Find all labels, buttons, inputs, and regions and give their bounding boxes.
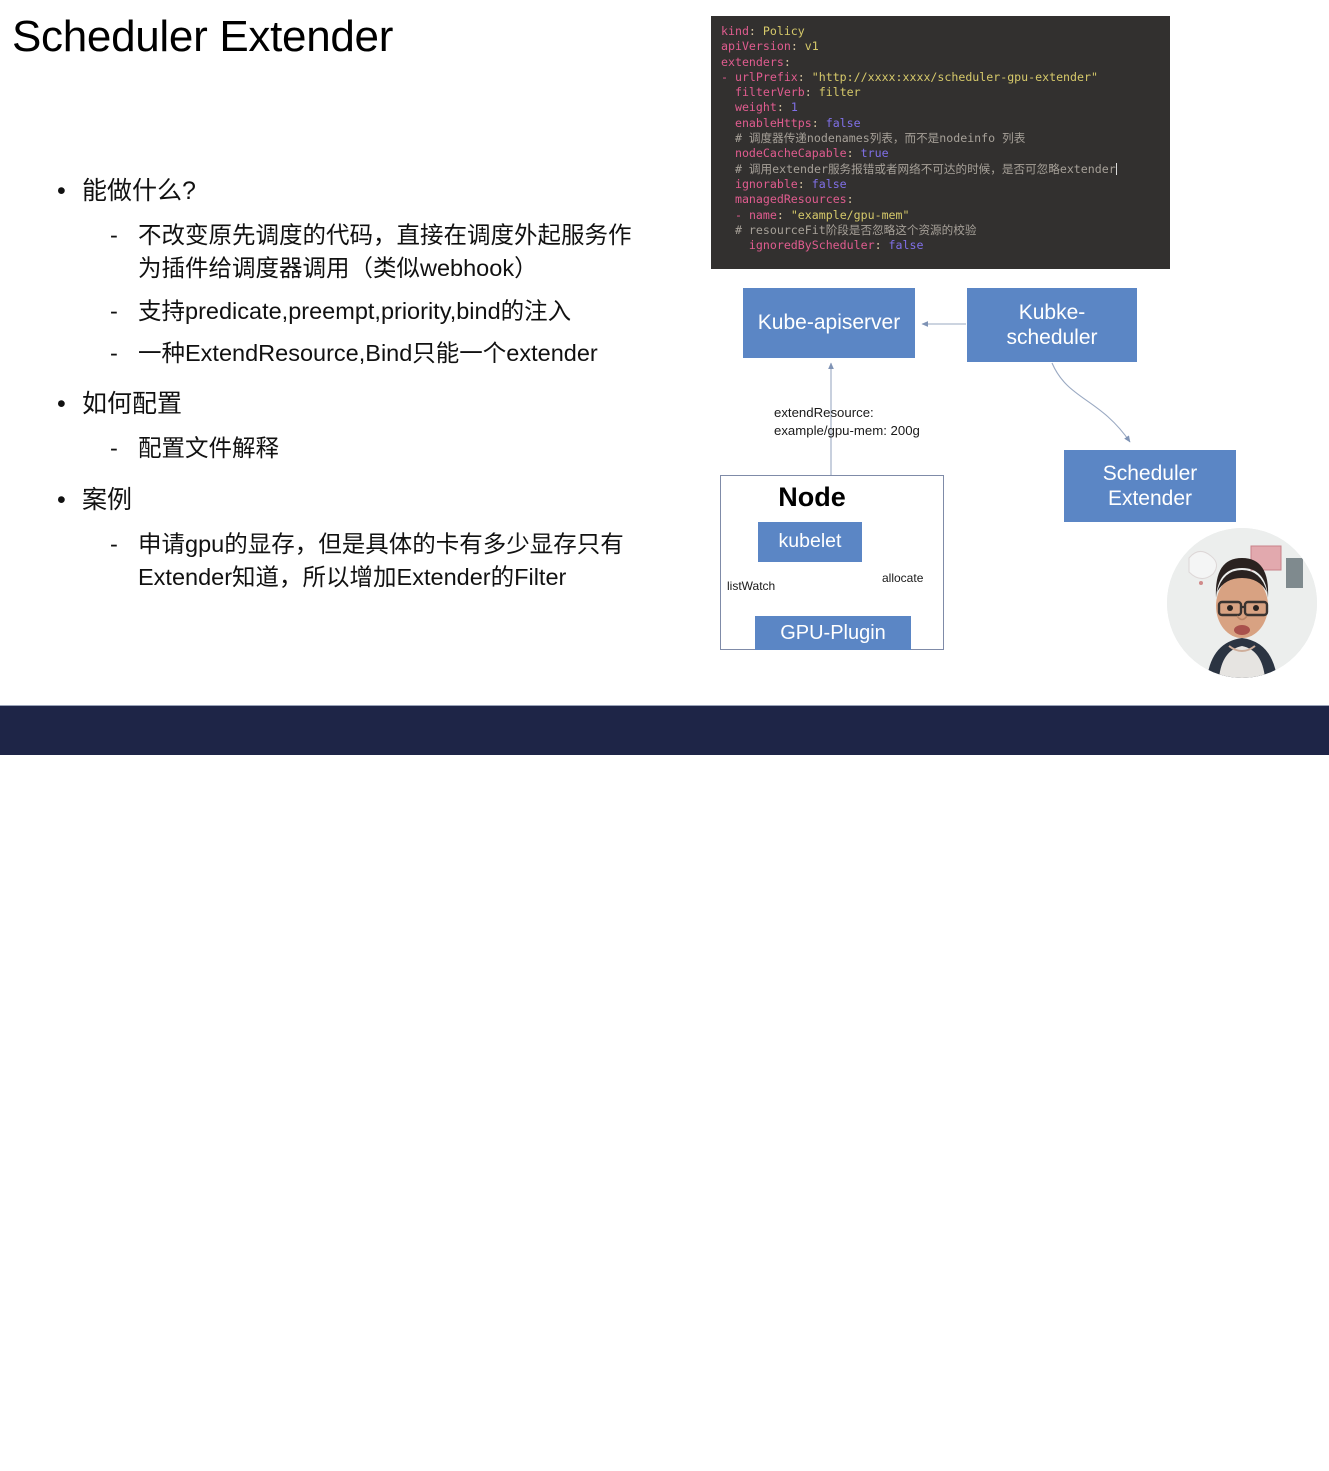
aliyun-logo-text: 阿里云	[1077, 1417, 1155, 1453]
bullet-list: •能做什么?-不改变原先调度的代码，直接在调度外起服务作为插件给调度器调用（类似…	[48, 175, 688, 613]
diagram-box-kubelet[interactable]: kubelet	[758, 522, 862, 562]
code-token: -	[721, 70, 735, 84]
presentation-slide: Scheduler Extender •能做什么?-不改变原先调度的代码，直接在…	[0, 0, 1329, 754]
bullet-sublist: -配置文件解释	[48, 432, 688, 465]
edge-label-list-watch: listWatch	[727, 578, 775, 594]
kubke-scheduler-label-line-2: scheduler	[1006, 325, 1097, 350]
cncf-logo: CLOUD NATIVE COMPUTING FOUNDATION	[1158, 1417, 1329, 1453]
code-token: name	[749, 208, 777, 222]
code-token: 1	[791, 100, 798, 114]
edge-label-extend-resource: extendResource:example/gpu-mem: 200g	[774, 404, 920, 440]
bullet-level2: -配置文件解释	[48, 432, 688, 465]
code-token: # resourceFit阶段是否忽略这个资源的校验	[735, 223, 976, 237]
bullet-level1-text: 案例	[82, 486, 132, 514]
cncf-logo-text: CLOUD NATIVE COMPUTING FOUNDATION	[1194, 1399, 1329, 1470]
code-token: managedResources	[735, 192, 847, 206]
bullet-level1-text: 能做什么?	[82, 177, 196, 205]
cncf-line-2: COMPUTING FOUNDATION	[1194, 1441, 1265, 1469]
bullet-level2-text: 不改变原先调度的代码，直接在调度外起服务作	[138, 219, 688, 252]
code-token: true	[861, 146, 889, 160]
code-token: apiVersion	[721, 39, 791, 53]
code-token: :	[784, 55, 791, 69]
footer-bar: 阿里云 CLOUD NATIVE COMPUTING FOUNDATION	[0, 705, 1329, 755]
cncf-line-1: CLOUD NATIVE	[1194, 1398, 1262, 1436]
node-label: Node	[700, 482, 924, 513]
scheduler-extender-label-line-2: Extender	[1103, 486, 1198, 511]
code-token: :	[777, 100, 791, 114]
code-token: v1	[805, 39, 819, 53]
bullet-level2: -一种ExtendResource,Bind只能一个extender	[48, 337, 688, 370]
code-line: weight: 1	[721, 100, 1170, 115]
code-token: :	[847, 146, 861, 160]
code-token: ignorable	[735, 177, 798, 191]
bullet-level2: -申请gpu的显存，但是具体的卡有多少显存只有Extender知道，所以增加Ex…	[48, 528, 688, 595]
code-token: filter	[819, 85, 861, 99]
code-line: enableHttps: false	[721, 116, 1170, 131]
code-token: -	[735, 208, 749, 222]
code-line: # resourceFit阶段是否忽略这个资源的校验	[721, 223, 1170, 238]
sub-bullet-marker-icon: -	[110, 219, 118, 252]
bullet-level1: •案例	[48, 484, 688, 516]
bullet-level1: •如何配置	[48, 388, 688, 420]
extend-resource-label-line-2: example/gpu-mem: 200g	[774, 422, 920, 440]
diagram-box-gpu-plugin[interactable]: GPU-Plugin	[755, 616, 911, 650]
code-line: - urlPrefix: "http://xxxx:xxxx/scheduler…	[721, 70, 1170, 85]
code-token: false	[812, 177, 847, 191]
bullet-sublist: -申请gpu的显存，但是具体的卡有多少显存只有Extender知道，所以增加Ex…	[48, 528, 688, 595]
code-token: kind	[721, 24, 749, 38]
code-token: enableHttps	[735, 116, 812, 130]
code-token: false	[826, 116, 861, 130]
kubke-scheduler-label-line-1: Kubke-	[1006, 300, 1097, 325]
bullet-level2-text-cont: 为插件给调度器调用（类似webhook）	[138, 252, 688, 285]
code-token: :	[875, 238, 889, 252]
edge-label-allocate: allocate	[882, 570, 923, 586]
code-token: "example/gpu-mem"	[791, 208, 910, 222]
code-token: :	[798, 177, 812, 191]
code-line: # 调度器传递nodenames列表，而不是nodeinfo 列表	[721, 131, 1170, 146]
code-token: weight	[735, 100, 777, 114]
bullet-level2-text: 配置文件解释	[138, 432, 688, 465]
text-cursor-icon	[1116, 163, 1118, 175]
code-token: :	[777, 208, 791, 222]
code-line: # 调用extender服务报错或者网络不可达的时候，是否可忽略extender	[721, 162, 1170, 177]
extend-resource-label-line-1: extendResource:	[774, 404, 920, 422]
code-token: false	[889, 238, 924, 252]
code-line: managedResources:	[721, 192, 1170, 207]
scheduler-extender-label-line-1: Scheduler	[1103, 461, 1198, 486]
bullet-level2-text: 支持predicate,preempt,priority,bind的注入	[138, 295, 688, 328]
code-token: # 调用extender服务报错或者网络不可达的时候，是否可忽略extender	[735, 162, 1116, 176]
bullet-level2-text-cont: Extender知道，所以增加Extender的Filter	[138, 561, 688, 594]
code-token: :	[805, 85, 819, 99]
code-token: Policy	[763, 24, 805, 38]
bullet-marker-icon: •	[57, 175, 66, 207]
bullet-marker-icon: •	[57, 388, 66, 420]
page-title: Scheduler Extender	[12, 12, 393, 62]
code-line: kind: Policy	[721, 24, 1170, 39]
sub-bullet-marker-icon: -	[110, 528, 118, 561]
sub-bullet-marker-icon: -	[110, 432, 118, 465]
cncf-mark-icon	[1158, 1420, 1187, 1450]
sub-bullet-marker-icon: -	[110, 337, 118, 370]
aliyun-mark-icon	[1018, 1421, 1072, 1449]
bullet-level2: -支持predicate,preempt,priority,bind的注入	[48, 295, 688, 328]
code-line: nodeCacheCapable: true	[721, 146, 1170, 161]
sub-bullet-marker-icon: -	[110, 295, 118, 328]
code-token: filterVerb	[735, 85, 805, 99]
yaml-code-block: kind: PolicyapiVersion: v1extenders:- ur…	[711, 16, 1170, 269]
presenter-webcam-video[interactable]	[1167, 528, 1317, 678]
code-line: filterVerb: filter	[721, 85, 1170, 100]
bullet-level1: •能做什么?	[48, 175, 688, 207]
bullet-level2: -不改变原先调度的代码，直接在调度外起服务作为插件给调度器调用（类似webhoo…	[48, 219, 688, 286]
bullet-level2-text: 申请gpu的显存，但是具体的卡有多少显存只有	[138, 528, 688, 561]
code-token: :	[798, 70, 812, 84]
code-line: apiVersion: v1	[721, 39, 1170, 54]
code-token: :	[749, 24, 763, 38]
code-token: :	[847, 192, 854, 206]
code-token: nodeCacheCapable	[735, 146, 847, 160]
code-token: # 调度器传递nodenames列表，而不是nodeinfo 列表	[735, 131, 1025, 145]
code-token: urlPrefix	[735, 70, 798, 84]
aliyun-logo: 阿里云	[1018, 1418, 1155, 1452]
code-token: extenders	[721, 55, 784, 69]
bullet-level1-text: 如何配置	[82, 390, 182, 418]
code-line: extenders:	[721, 55, 1170, 70]
bullet-marker-icon: •	[57, 484, 66, 516]
code-token: :	[791, 39, 805, 53]
webcam-frame	[1167, 528, 1317, 678]
code-token: ignoredByScheduler	[749, 238, 875, 252]
code-token: "http://xxxx:xxxx/scheduler-gpu-extender…	[812, 70, 1098, 84]
diagram-box-kubke-scheduler[interactable]: Kubke-scheduler	[967, 288, 1137, 362]
diagram-box-scheduler-extender[interactable]: SchedulerExtender	[1064, 450, 1236, 522]
code-line: ignoredByScheduler: false	[721, 238, 1170, 253]
diagram-box-kube-apiserver[interactable]: Kube-apiserver	[743, 288, 915, 358]
code-token: :	[812, 116, 826, 130]
code-line: ignorable: false	[721, 177, 1170, 192]
bullet-level2-text: 一种ExtendResource,Bind只能一个extender	[138, 337, 688, 370]
bullet-sublist: -不改变原先调度的代码，直接在调度外起服务作为插件给调度器调用（类似webhoo…	[48, 219, 688, 370]
code-line: - name: "example/gpu-mem"	[721, 208, 1170, 223]
